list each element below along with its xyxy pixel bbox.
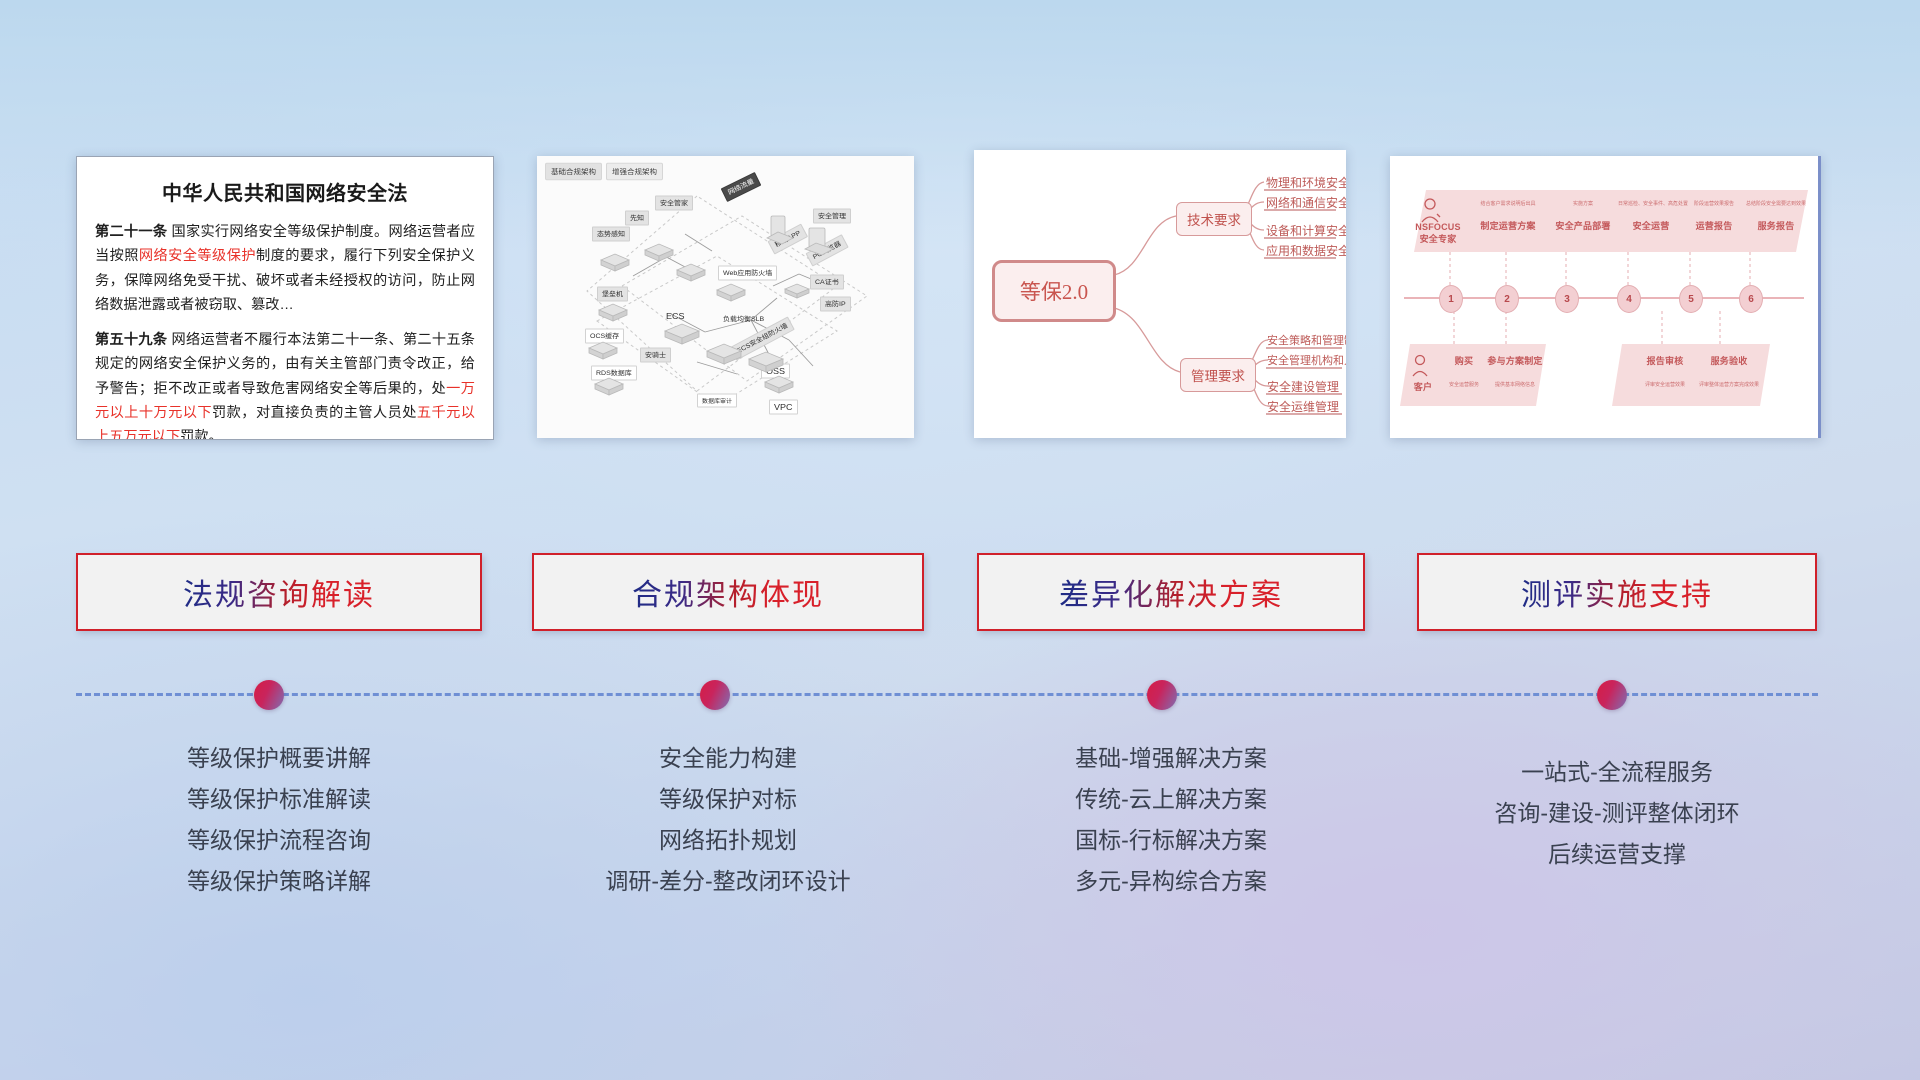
mindmap-leaf-device-compute: 设备和计算安全 — [1266, 222, 1346, 241]
section-title-2: 合规架构体现 — [632, 570, 824, 614]
customer-label: 客户 — [1406, 380, 1440, 393]
mindmap: 等保2.0 技术要求 管理要求 物理和环境安全 网络和通信安全 设备和计算安全 … — [974, 150, 1346, 438]
mindmap-leaf-org-personnel: 安全管理机构和人员 — [1267, 352, 1346, 370]
timeline-dot-4[interactable] — [1597, 680, 1627, 710]
mindmap-root-node: 等保2.0 — [992, 260, 1116, 322]
top-step-3-title: 安全运营 — [1618, 219, 1684, 232]
section-items-2: 安全能力构建 等级保护对标 网络拓扑规划 调研-差分-整改闭环设计 — [532, 738, 924, 902]
slide-canvas: 中华人民共和国网络安全法 第二十一条 国家实行网络安全等级保护制度。网络运营者应… — [0, 0, 1920, 1080]
law-article-59-mid: 罚款，对直接负责的主管人员处 — [212, 405, 417, 421]
timeline-dot-3[interactable] — [1147, 680, 1177, 710]
bottom-step-4: 服务验收 评审整体运营方案完成效果 — [1696, 354, 1762, 388]
section-items-1: 等级保护概要讲解 等级保护标准解读 等级保护流程咨询 等级保护策略详解 — [76, 738, 482, 902]
list-item: 等级保护策略详解 — [76, 861, 482, 902]
mindmap-leaf-ops-mgmt: 安全运维管理 — [1267, 398, 1339, 417]
node-ca-certificate: CA证书 — [810, 275, 844, 290]
list-item: 多元-异构综合方案 — [977, 861, 1365, 902]
bottom-step-1-sub: 安全运营服务 — [1440, 381, 1488, 388]
mindmap-branch-technical: 技术要求 — [1176, 202, 1252, 236]
top-step-1: 结合客户需求说明后出具 制定运营方案 — [1472, 200, 1544, 232]
node-rds-database: RDS数据库 — [591, 366, 637, 381]
node-anti-ddos-ip: 高防IP — [820, 297, 851, 312]
thumbnail-cybersecurity-law[interactable]: 中华人民共和国网络安全法 第二十一条 国家实行网络安全等级保护制度。网络运营者应… — [76, 156, 494, 440]
top-step-5-title: 服务报告 — [1744, 219, 1808, 232]
section-title-4: 测评实施支持 — [1521, 570, 1713, 614]
bottom-step-3-title: 报告审核 — [1636, 354, 1694, 367]
top-step-5: 总结阶段安全需要达到效果 服务报告 — [1744, 200, 1808, 232]
section-title-box-1[interactable]: 法规咨询解读 — [76, 553, 482, 631]
step-number-3: 3 — [1555, 285, 1579, 313]
step-number-5: 5 — [1679, 285, 1703, 313]
top-step-4-sub: 阶段运营效果报告 — [1682, 200, 1746, 207]
mindmap-leaf-construction-mgmt: 安全建设管理 — [1267, 378, 1339, 397]
list-item: 基础-增强解决方案 — [977, 738, 1365, 779]
list-item: 等级保护标准解读 — [76, 779, 482, 820]
top-step-3: 日常巡检、安全事件、高危处置 安全运营 — [1618, 200, 1684, 232]
step-number-2: 2 — [1495, 285, 1519, 313]
node-waf: Web应用防火墙 — [718, 266, 777, 281]
node-ocs-cache: OCS缓存 — [585, 329, 624, 344]
law-article-59-end: 罚款。 — [180, 429, 223, 440]
node-vpc: VPC — [769, 400, 798, 415]
timeline-dashed-line — [76, 693, 1818, 696]
expert-label-block: NSFOCUS 安全专家 — [1414, 204, 1462, 245]
node-ecs: ECS — [662, 309, 689, 322]
section-title-box-2[interactable]: 合规架构体现 — [532, 553, 924, 631]
top-step-1-sub: 结合客户需求说明后出具 — [1472, 200, 1544, 207]
bottom-step-2: 参与方案制定 提供基本网络信息 — [1484, 354, 1546, 388]
section-title-box-3[interactable]: 差异化解决方案 — [977, 553, 1365, 631]
bottom-step-2-sub: 提供基本网络信息 — [1484, 381, 1546, 388]
service-flow-diagram: NSFOCUS 安全专家 结合客户需求说明后出具 制定运营方案 实施方案 安全产… — [1390, 156, 1818, 438]
timeline-dot-2[interactable] — [700, 680, 730, 710]
step-number-4: 4 — [1617, 285, 1641, 313]
law-article-21-highlight: 网络安全等级保护 — [139, 248, 256, 264]
node-anqishi: 安骑士 — [640, 348, 671, 363]
list-item: 国标-行标解决方案 — [977, 820, 1365, 861]
customer-label-block: 客户 — [1406, 380, 1440, 393]
section-title-box-4[interactable]: 测评实施支持 — [1417, 553, 1817, 631]
section-items-4: 一站式-全流程服务 咨询-建设-测评整体闭环 后续运营支撑 — [1417, 752, 1817, 875]
law-article-59: 第五十九条 网络运营者不履行本法第二十一条、第二十五条规定的网络安全保护义务的，… — [95, 328, 475, 440]
bottom-step-1-title: 购买 — [1440, 354, 1488, 367]
top-step-1-title: 制定运营方案 — [1472, 219, 1544, 232]
list-item: 网络拓扑规划 — [532, 820, 924, 861]
thumbnail-cloud-architecture[interactable]: 基础合规架构 增强合规架构 — [537, 156, 914, 438]
law-title: 中华人民共和国网络安全法 — [95, 177, 475, 206]
mindmap-leaf-network-comm: 网络和通信安全 — [1266, 194, 1346, 213]
step-number-6: 6 — [1739, 285, 1763, 313]
section-title-1: 法规咨询解读 — [183, 570, 375, 614]
node-xianzhi: 先知 — [625, 211, 649, 226]
law-article-21: 第二十一条 国家实行网络安全等级保护制度。网络运营者应当按照网络安全等级保护制度… — [95, 220, 475, 318]
mindmap-leaf-policy-system: 安全策略和管理制度 — [1267, 332, 1346, 350]
architecture-diagram: 基础合规架构 增强合规架构 — [537, 156, 914, 438]
node-database-audit: 数据库审计 — [697, 394, 737, 408]
bottom-step-2-title: 参与方案制定 — [1484, 354, 1546, 367]
bottom-step-4-sub: 评审整体运营方案完成效果 — [1696, 381, 1762, 388]
node-security-steward: 安全管家 — [655, 196, 693, 211]
law-document: 中华人民共和国网络安全法 第二十一条 国家实行网络安全等级保护制度。网络运营者应… — [77, 157, 493, 439]
top-step-4: 阶段运营效果报告 运营报告 — [1682, 200, 1746, 232]
thumbnail-row: 中华人民共和国网络安全法 第二十一条 国家实行网络安全等级保护制度。网络运营者应… — [0, 0, 1920, 460]
timeline-dot-1[interactable] — [254, 680, 284, 710]
list-item: 等级保护对标 — [532, 779, 924, 820]
list-item: 等级保护概要讲解 — [76, 738, 482, 779]
node-slb: 负载均衡SLB — [719, 312, 768, 325]
bottom-step-3: 报告审核 评审安全运营效果 — [1636, 354, 1694, 388]
top-step-3-sub: 日常巡检、安全事件、高危处置 — [1618, 200, 1684, 207]
list-item: 咨询-建设-测评整体闭环 — [1417, 793, 1817, 834]
section-items-3: 基础-增强解决方案 传统-云上解决方案 国标-行标解决方案 多元-异构综合方案 — [977, 738, 1365, 902]
section-title-3: 差异化解决方案 — [1059, 570, 1283, 614]
law-article-21-label: 第二十一条 — [95, 224, 167, 240]
mindmap-branch-management: 管理要求 — [1180, 358, 1256, 392]
thumbnail-nsfocus-service-flow[interactable]: NSFOCUS 安全专家 结合客户需求说明后出具 制定运营方案 实施方案 安全产… — [1390, 156, 1821, 438]
list-item: 后续运营支撑 — [1417, 834, 1817, 875]
list-item: 安全能力构建 — [532, 738, 924, 779]
node-bastion-host: 堡垒机 — [597, 287, 628, 302]
mindmap-leaf-physical-env: 物理和环境安全 — [1266, 174, 1346, 193]
top-step-5-sub: 总结阶段安全需要达到效果 — [1744, 200, 1808, 207]
node-situational-awareness: 态势感知 — [592, 227, 630, 242]
bottom-step-1: 购买 安全运营服务 — [1440, 354, 1488, 388]
step-number-1: 1 — [1439, 285, 1463, 313]
list-item: 一站式-全流程服务 — [1417, 752, 1817, 793]
top-step-4-title: 运营报告 — [1682, 219, 1746, 232]
top-step-2-title: 安全产品部署 — [1550, 219, 1616, 232]
list-item: 传统-云上解决方案 — [977, 779, 1365, 820]
list-item: 等级保护流程咨询 — [76, 820, 482, 861]
top-step-2: 实施方案 安全产品部署 — [1550, 200, 1616, 232]
nsfocus-brand-label: NSFOCUS — [1414, 222, 1462, 232]
bottom-step-4-title: 服务验收 — [1696, 354, 1762, 367]
bottom-step-3-sub: 评审安全运营效果 — [1636, 381, 1694, 388]
node-oss: OSS — [761, 364, 790, 379]
mindmap-leaf-app-data: 应用和数据安全 — [1266, 242, 1346, 261]
top-step-2-sub: 实施方案 — [1550, 200, 1616, 207]
thumbnail-mindmap-dengbao[interactable]: 等保2.0 技术要求 管理要求 物理和环境安全 网络和通信安全 设备和计算安全 … — [974, 150, 1346, 438]
node-security-management: 安全管理 — [813, 209, 851, 224]
law-article-59-label: 第五十九条 — [95, 332, 167, 348]
list-item: 调研-差分-整改闭环设计 — [532, 861, 924, 902]
nsfocus-expert-label: 安全专家 — [1414, 232, 1462, 245]
